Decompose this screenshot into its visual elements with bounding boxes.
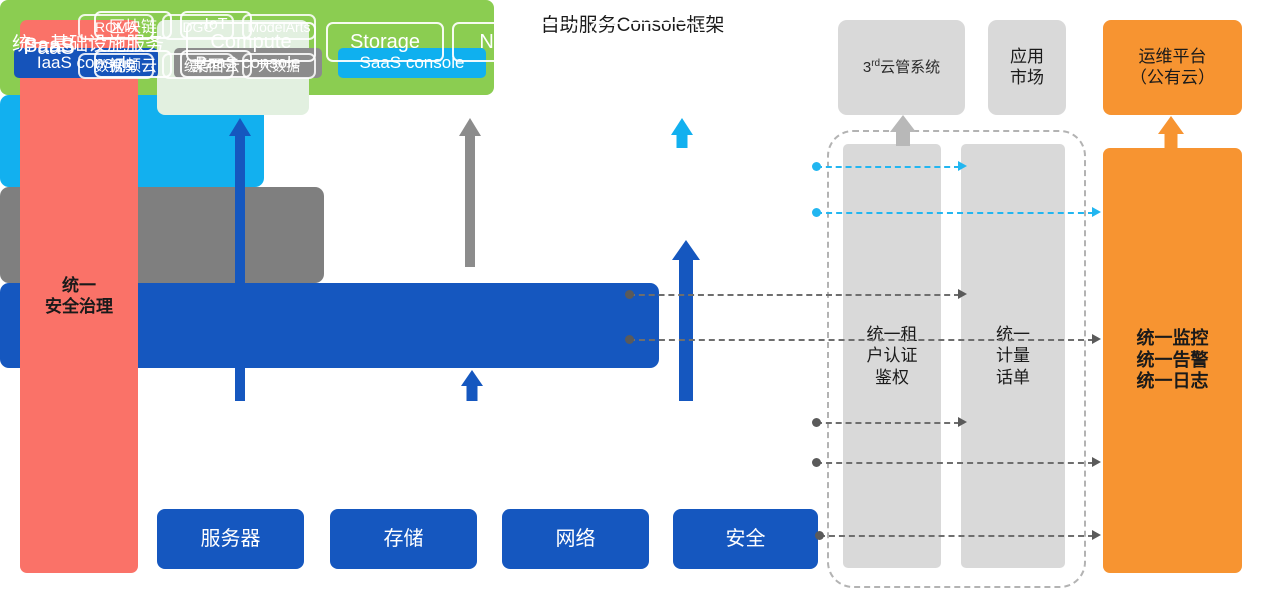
security-governance-label: 统一安全治理 [45,276,113,317]
architecture-diagram: 统一安全治理 API网关 自助服务Console框架 IaaS console … [0,0,1265,605]
connector-dot-paas-auth [625,290,634,299]
resource-box-server[interactable]: 服务器 [157,509,304,569]
connector-dot-infra-ops [812,458,821,467]
connector-dot-security-ops [815,531,824,540]
app-market-box[interactable]: 应用市场 [988,20,1066,115]
connector-arrow-paas-auth [958,289,967,299]
unified-metering-billing-label: 统一计量话单 [996,324,1030,388]
arrow-up-to-ops-platform [1158,116,1184,148]
unified-tenant-auth-label: 统一租户认证鉴权 [867,324,918,388]
connector-dot-saas-ops [812,208,821,217]
resource-label-network: 网络 [556,527,596,551]
connector-saas-to-ops [816,212,1094,214]
infra-chip-network[interactable]: Network [452,22,580,62]
connector-dot-infra-auth [812,418,821,427]
connector-arrow-saas-auth [958,161,967,171]
connector-arrow-security-ops [1092,530,1101,540]
resource-box-network[interactable]: 网络 [502,509,649,569]
arrow-up-to-api-gateway [228,118,252,401]
resource-box-security[interactable]: 安全 [673,509,818,569]
resource-box-storage[interactable]: 存储 [330,509,477,569]
arrow-up-to-third-party [890,115,916,146]
arrow-up-to-paas-console [458,118,482,267]
app-market-label: 应用市场 [1010,47,1044,88]
arrow-up-infra-to-saas [672,240,700,401]
connector-infra-to-ops [816,462,1094,464]
connector-paas-to-ops [629,339,1094,341]
third-party-label: 3rd云管系统 [863,58,940,77]
arrow-up-to-saas-console [670,118,694,148]
resource-label-security: 安全 [726,527,766,551]
connector-dot-saas-auth [812,162,821,171]
connector-arrow-infra-ops [1092,457,1101,467]
unified-tenant-auth-column[interactable]: 统一租户认证鉴权 [843,144,941,568]
connector-arrow-saas-ops [1092,207,1101,217]
security-governance-panel[interactable]: 统一安全治理 [20,20,138,573]
connector-arrow-infra-auth [958,417,967,427]
connector-security-to-ops [819,535,1094,537]
unified-monitoring-label: 统一监控统一告警统一日志 [1137,328,1209,394]
infra-chip-compute[interactable]: Compute [186,22,316,62]
connector-saas-to-auth [816,166,960,168]
ops-platform-label: 运维平台（公有云） [1130,47,1215,88]
infra-chip-cce[interactable]: CCE [590,22,700,62]
connector-dot-paas-ops [625,335,634,344]
third-party-cloud-management-box[interactable]: 3rd云管系统 [838,20,965,115]
infra-chip-storage[interactable]: Storage [326,22,444,62]
connector-infra-to-auth [816,422,960,424]
unified-metering-billing-column[interactable]: 统一计量话单 [961,144,1065,568]
ops-platform-public-cloud-box[interactable]: 运维平台（公有云） [1103,20,1242,115]
connector-paas-to-auth [629,294,960,296]
resource-label-storage: 存储 [384,527,424,551]
arrow-up-infra-to-paas [460,370,484,401]
unified-monitoring-panel[interactable]: 统一监控统一告警统一日志 [1103,148,1242,573]
resource-label-server: 服务器 [201,527,261,551]
connector-arrow-paas-ops [1092,334,1101,344]
unified-infrastructure-label: 统一基础设施服务 [12,0,164,85]
